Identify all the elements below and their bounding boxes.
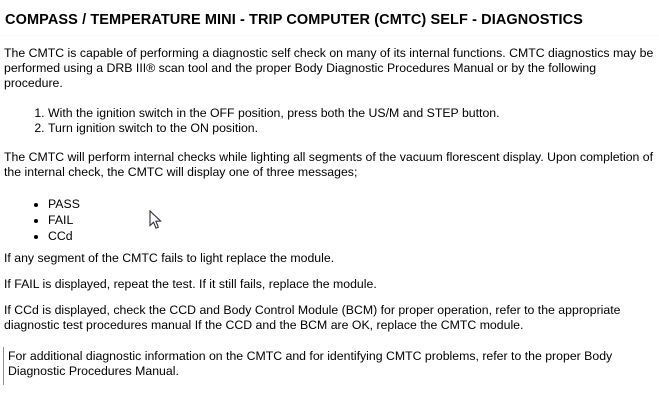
paragraph-ccd-message: If CCd is displayed, check the CCD and B… [4, 303, 656, 333]
procedure-steps-list: With the ignition switch in the OFF posi… [4, 106, 500, 136]
paragraph-additional-info: For additional diagnostic information on… [8, 349, 656, 379]
mouse-arrow-cursor-icon [149, 210, 162, 230]
list-item: PASS [48, 196, 80, 212]
paragraph-segment-fail: If any segment of the CMTC fails to ligh… [4, 251, 656, 266]
paragraph-internal-checks: The CMTC will perform internal checks wh… [4, 150, 656, 180]
list-item: FAIL [48, 212, 80, 228]
diagnostic-messages-list: PASS FAIL CCd [4, 196, 80, 244]
paragraph-intro: The CMTC is capable of performing a diag… [4, 46, 656, 91]
document-page: COMPASS / TEMPERATURE MINI - TRIP COMPUT… [0, 0, 659, 404]
page-title: COMPASS / TEMPERATURE MINI - TRIP COMPUT… [5, 12, 583, 28]
list-item: With the ignition switch in the OFF posi… [48, 106, 500, 121]
title-divider [0, 35, 659, 36]
list-item: Turn ignition switch to the ON position. [48, 121, 500, 136]
paragraph-fail-message: If FAIL is displayed, repeat the test. I… [4, 277, 656, 292]
paragraph-left-rule [3, 347, 4, 385]
list-item: CCd [48, 228, 80, 244]
